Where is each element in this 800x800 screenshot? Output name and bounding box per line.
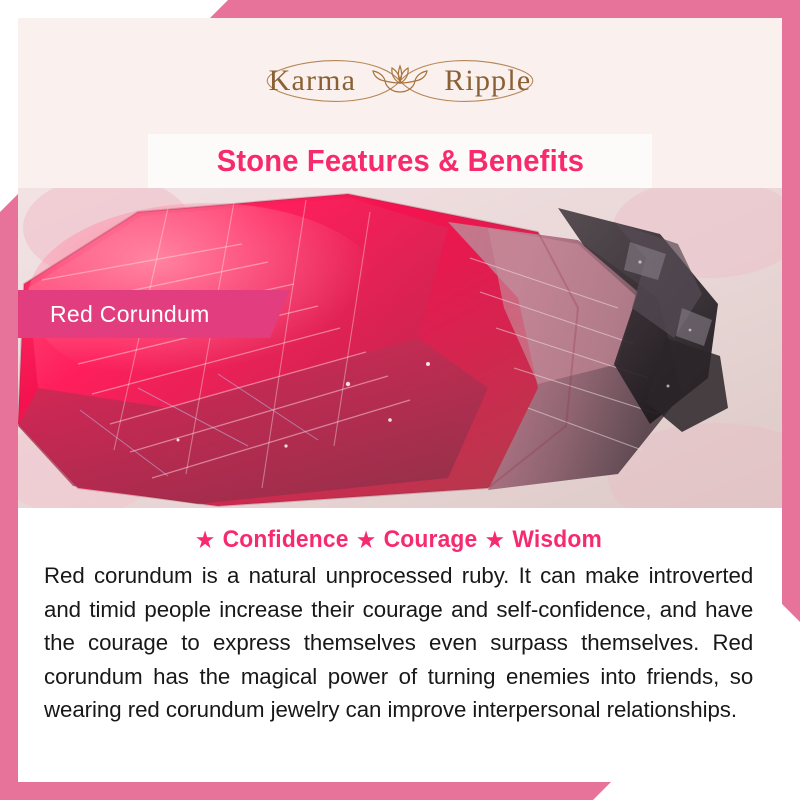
page-title: Stone Features & Benefits — [216, 143, 583, 179]
description-panel: ★ Confidence ★ Courage ★ Wisdom Red coru… — [18, 508, 782, 782]
infographic-page: Karma Ripple Stone Features & Benefits — [0, 0, 800, 800]
star-icon-3: ★ — [486, 529, 504, 552]
keyword-wisdom: Wisdom — [512, 526, 602, 553]
content-canvas: Karma Ripple Stone Features & Benefits — [18, 18, 782, 782]
logo-word-ripple: Ripple — [444, 64, 531, 98]
frame-accent-right-bar — [781, 0, 800, 622]
section-title-banner: Stone Features & Benefits — [148, 134, 652, 188]
keyword-row: ★ Confidence ★ Courage ★ Wisdom — [37, 526, 763, 554]
description-text: Red corundum is a natural unprocessed ru… — [44, 559, 753, 727]
frame-accent-left-bar — [0, 193, 19, 800]
logo-word-karma: Karma — [269, 64, 357, 98]
frame-accent-bottom-bar — [0, 781, 612, 800]
stone-name-label: Red Corundum — [50, 301, 210, 328]
stone-name-tag: Red Corundum — [18, 290, 290, 338]
stone-photo-artwork — [18, 188, 782, 508]
keyword-confidence: Confidence — [223, 526, 349, 553]
star-icon-2: ★ — [357, 529, 375, 552]
keyword-courage: Courage — [384, 526, 478, 553]
stone-photo — [18, 188, 782, 508]
star-icon-1: ★ — [196, 529, 214, 552]
brand-logo: Karma Ripple — [18, 42, 782, 120]
frame-accent-top-bar — [210, 0, 800, 18]
